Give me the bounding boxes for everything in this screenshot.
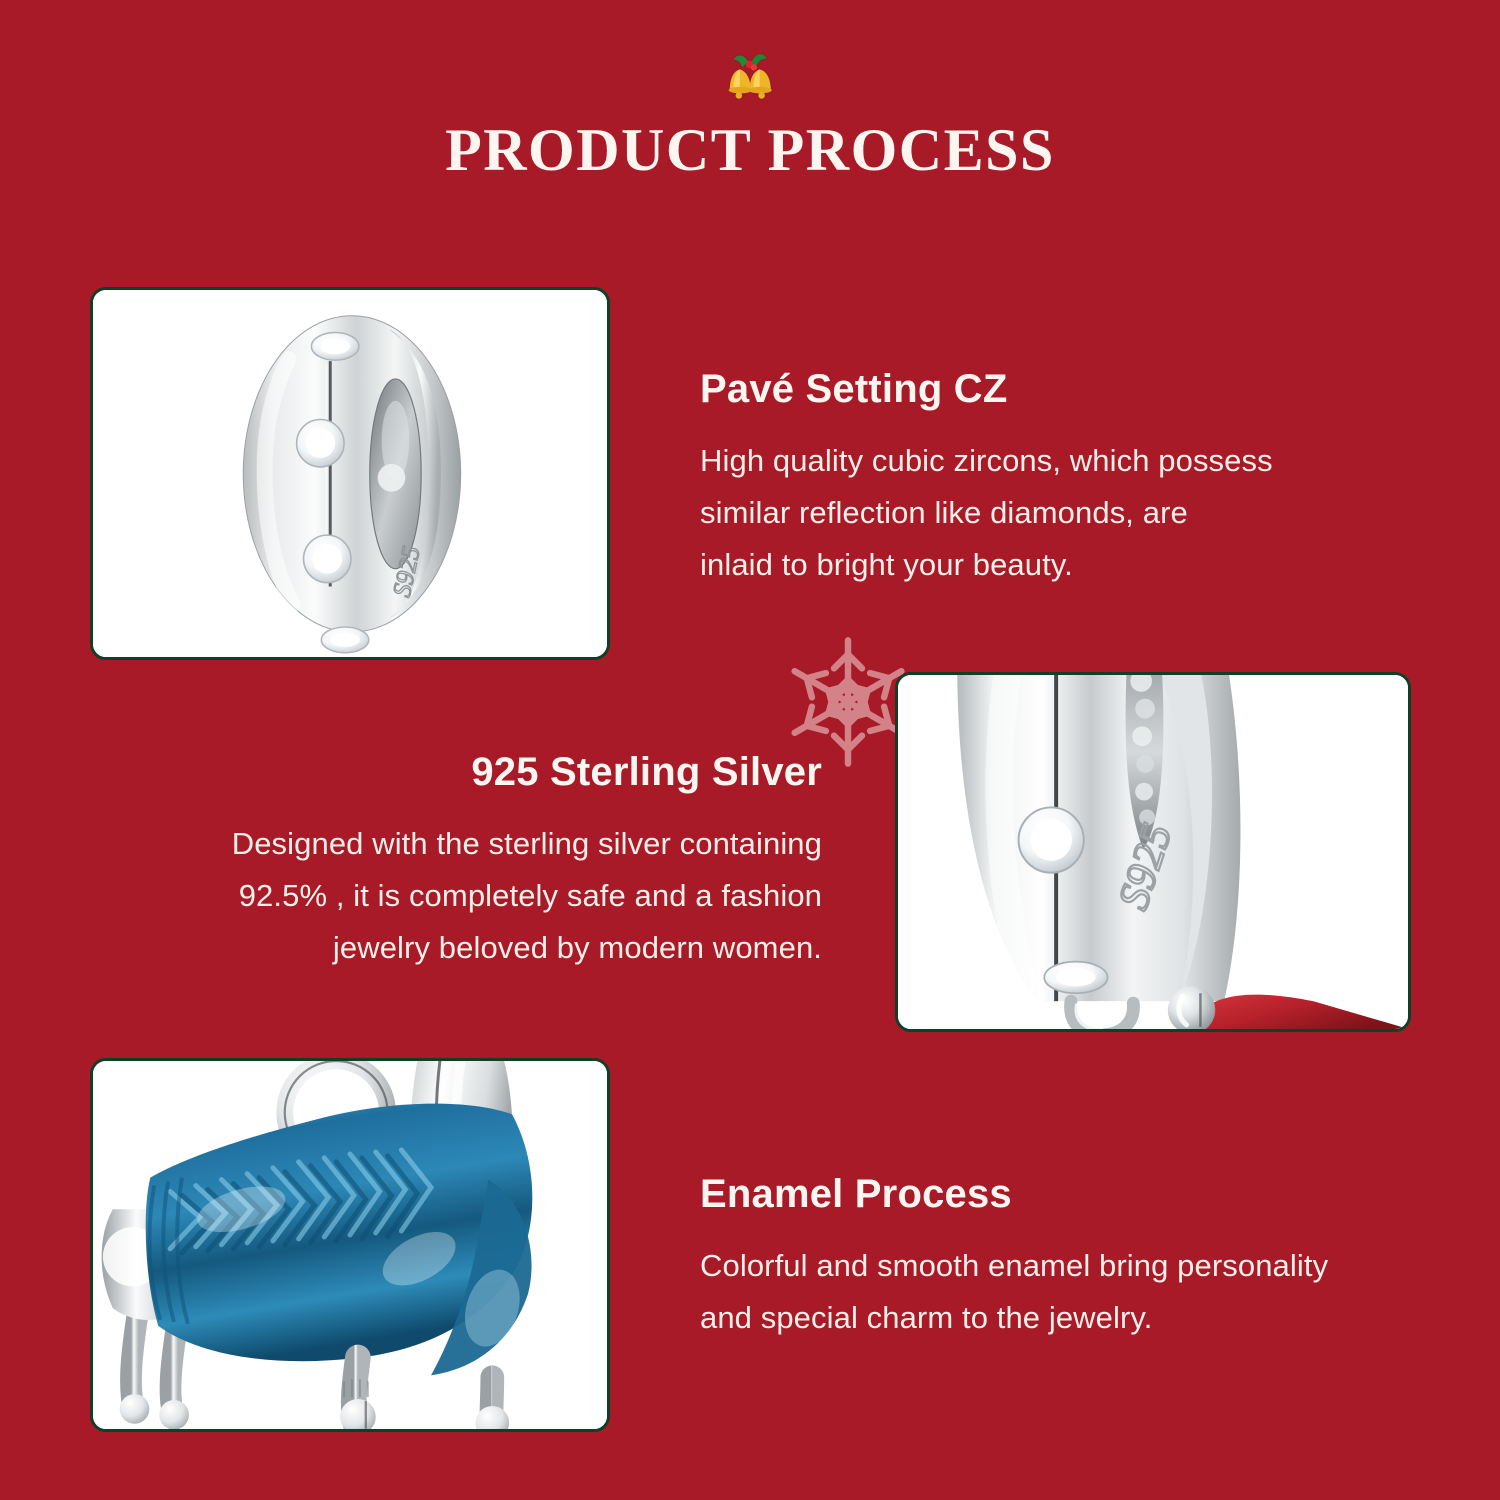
- sterling-silver-body-line-1: Designed with the sterling silver contai…: [150, 818, 822, 870]
- pave-setting-cz-image-frame: S925: [90, 287, 610, 660]
- page-header: PRODUCT PROCESS: [0, 44, 1500, 182]
- christmas-bells-icon: [0, 44, 1500, 106]
- enamel-process-body-line-1: Colorful and smooth enamel bring persona…: [700, 1240, 1440, 1292]
- enamel-process-heading: Enamel Process: [700, 1170, 1440, 1218]
- pave-setting-cz-heading: Pavé Setting CZ: [700, 365, 1360, 413]
- sterling-silver-heading: 925 Sterling Silver: [150, 748, 822, 796]
- enamel-process-body-line-2: and special charm to the jewelry.: [700, 1292, 1440, 1344]
- sterling-silver-body-line-3: jewelry beloved by modern women.: [150, 922, 822, 974]
- pave-setting-cz-body-line-3: inlaid to bright your beauty.: [700, 539, 1360, 591]
- sterling-silver-text-block: 925 Sterling Silver Designed with the st…: [150, 748, 822, 974]
- pave-setting-cz-body-line-2: similar reflection like diamonds, are: [700, 487, 1360, 539]
- sterling-silver-body-line-2: 92.5% , it is completely safe and a fash…: [150, 870, 822, 922]
- sterling-silver-image-frame: S925: [895, 672, 1411, 1032]
- silver-spacer-bead-with-cz-photo: S925: [93, 290, 607, 659]
- enamel-process-text-block: Enamel Process Colorful and smooth ename…: [700, 1170, 1440, 1344]
- blue-enamel-dachshund-charm-photo: [93, 1061, 607, 1431]
- product-process-infographic: PRODUCT PROCESS: [0, 0, 1500, 1500]
- pave-setting-cz-text-block: Pavé Setting CZ High quality cubic zirco…: [700, 365, 1360, 591]
- pave-setting-cz-body-line-1: High quality cubic zircons, which posses…: [700, 435, 1360, 487]
- page-title: PRODUCT PROCESS: [0, 118, 1500, 182]
- enamel-process-image-frame: [90, 1058, 610, 1432]
- sterling-silver-closeup-photo: S925: [898, 675, 1408, 1031]
